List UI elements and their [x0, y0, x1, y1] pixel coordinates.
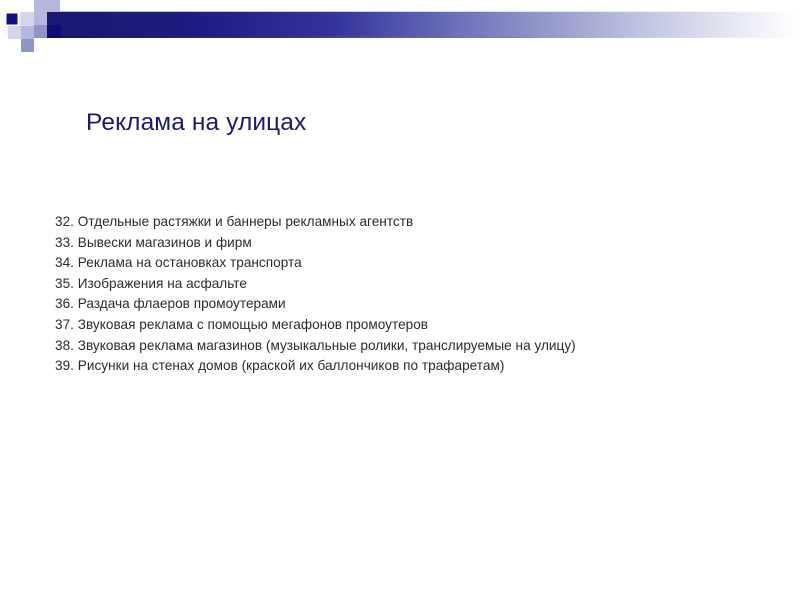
list-item: 32. Отдельные растяжки и баннеры рекламн… — [55, 212, 765, 233]
decorative-square-light-1 — [34, 0, 47, 12]
list-item: 38. Звуковая реклама магазинов (музыкаль… — [55, 336, 765, 357]
page-title: Реклама на улицах — [86, 108, 746, 138]
decorative-square-dark-accent — [5, 12, 19, 26]
decorative-square-dark-1 — [47, 25, 61, 38]
body-list: 32. Отдельные растяжки и баннеры рекламн… — [55, 212, 765, 377]
list-item: 35. Изображения на асфальте — [55, 274, 765, 295]
header-decoration — [0, 0, 800, 60]
list-item: 33. Вывески магазинов и фирм — [55, 233, 765, 254]
decorative-square-light-2 — [47, 0, 60, 12]
list-item: 34. Реклама на остановках транспорта — [55, 253, 765, 274]
decorative-square-pale-1 — [21, 12, 34, 25]
decorative-square-pale-2 — [8, 26, 21, 39]
list-item: 37. Звуковая реклама с помощью мегафонов… — [55, 315, 765, 336]
header-bar-underline — [47, 36, 800, 38]
list-item: 36. Раздача флаеров промоутерами — [55, 294, 765, 315]
list-item: 39. Рисунки на стенах домов (краской их … — [55, 356, 765, 377]
decorative-square-mid-2 — [21, 39, 34, 52]
decorative-square-light-4 — [21, 26, 34, 39]
header-gradient-bar — [47, 12, 800, 37]
slide-canvas: Реклама на улицах 32. Отдельные растяжки… — [0, 0, 800, 600]
decorative-square-light-3 — [34, 12, 47, 25]
decorative-square-mid-1 — [34, 25, 47, 38]
